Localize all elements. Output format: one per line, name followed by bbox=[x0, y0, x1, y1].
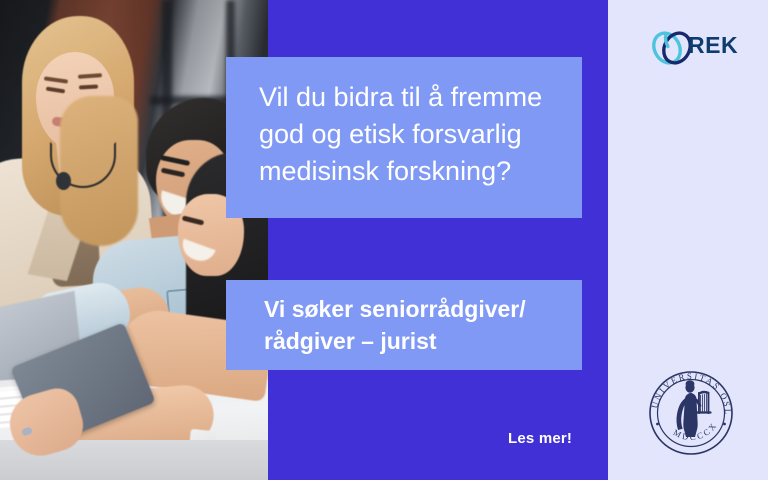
read-more-link[interactable]: Les mer! bbox=[508, 430, 572, 447]
rek-logo[interactable]: REK bbox=[650, 26, 742, 70]
recruitment-banner: REK UNIVERSITAS OSLOENSIS MDCCCXI bbox=[0, 0, 768, 480]
headline-box: Vil du bidra til å fremme god og etisk f… bbox=[226, 57, 582, 218]
headline-text: Vil du bidra til å fremme god og etisk f… bbox=[259, 79, 559, 190]
rek-wordmark: REK bbox=[688, 32, 738, 59]
job-title-text: Vi søker seniorrådgiver/ rådgiver – juri… bbox=[264, 293, 574, 357]
uio-seal-icon: UNIVERSITAS OSLOENSIS MDCCCXI bbox=[645, 367, 737, 459]
uio-seal: UNIVERSITAS OSLOENSIS MDCCCXI bbox=[645, 367, 737, 459]
necklace-pendant bbox=[56, 172, 71, 190]
job-title-box: Vi søker seniorrådgiver/ rådgiver – juri… bbox=[226, 280, 582, 370]
